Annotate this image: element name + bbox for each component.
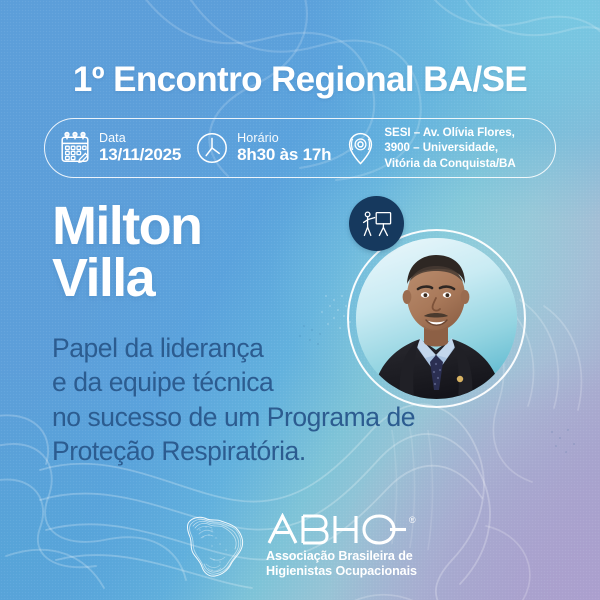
speaker-badge (349, 196, 404, 251)
event-time-value: 8h30 às 17h (237, 146, 331, 164)
event-poster: 1º Encontro Regional BA/SE (0, 0, 600, 600)
brazil-map-outline-icon (176, 510, 254, 582)
abho-wordmark: ® (266, 513, 422, 546)
page-title-text: 1º Encontro Regional BA/SE (73, 60, 527, 99)
event-time-text: Horário 8h30 às 17h (237, 132, 331, 163)
abho-subtitle-line-1: Associação Brasileira de (266, 549, 422, 564)
speaker-name: Milton Villa (52, 201, 201, 305)
event-location-line-2: 3900 – Universidade, (384, 140, 515, 155)
event-date-value: 13/11/2025 (99, 146, 181, 164)
speaker-first-name: Milton (52, 201, 201, 253)
event-date-block: Data 13/11/2025 (59, 131, 185, 165)
registered-mark: ® (409, 515, 416, 525)
event-date-label: Data (99, 132, 181, 145)
abho-subtitle: Associação Brasileira de Higienistas Ocu… (266, 549, 422, 580)
abho-wordmark-block: ® Associação Brasileira de Higienistas O… (266, 513, 422, 580)
speaker-photo (347, 229, 526, 408)
event-info-bar: Data 13/11/2025 Horário 8h30 às 17h (44, 118, 556, 178)
event-time-label: Horário (237, 132, 331, 145)
talk-title-line-4: Proteção Respiratória. (52, 434, 415, 468)
event-time-block: Horário 8h30 às 17h (185, 131, 331, 165)
event-location-line-1: SESI – Av. Olívia Flores, (384, 125, 515, 140)
speaker-last-name: Villa (52, 253, 201, 305)
location-pin-icon (345, 130, 376, 166)
abho-logo: ® Associação Brasileira de Higienistas O… (176, 506, 426, 586)
speaker-photo-ring (347, 229, 526, 408)
calendar-icon (59, 131, 91, 165)
presenter-board-icon (361, 209, 393, 239)
clock-icon (195, 131, 229, 165)
event-location-block: SESI – Av. Olívia Flores, 3900 – Univers… (331, 125, 541, 171)
page-title: 1º Encontro Regional BA/SE (0, 62, 600, 97)
event-location-line-3: Vitória da Conquista/BA (384, 156, 515, 171)
abho-subtitle-line-2: Higienistas Ocupacionais (266, 564, 422, 579)
event-location-text: SESI – Av. Olívia Flores, 3900 – Univers… (384, 125, 515, 171)
event-date-text: Data 13/11/2025 (99, 132, 181, 163)
